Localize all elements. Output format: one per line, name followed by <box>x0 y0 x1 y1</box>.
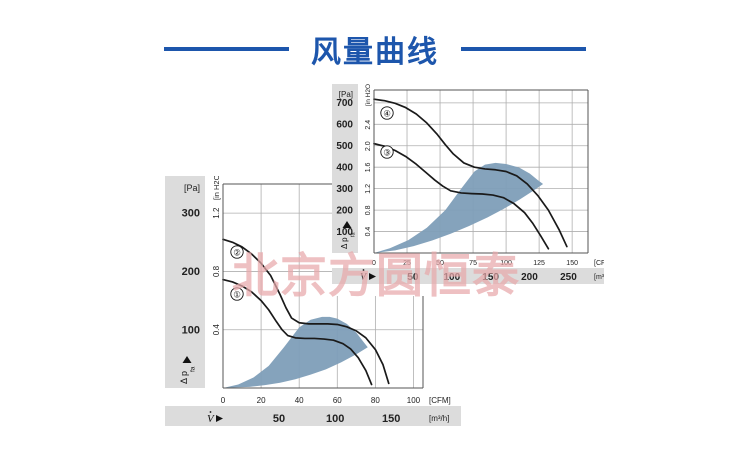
y-tick-secondary: 0.8 <box>365 205 372 215</box>
y-axis-title: Δ p <box>340 237 349 249</box>
y-tick-secondary: 0.4 <box>212 324 221 336</box>
x-axis-title-dot <box>363 269 365 271</box>
y-tick-primary: 200 <box>336 205 353 216</box>
x-tick-primary: 60 <box>333 396 342 405</box>
x-tick-secondary: 150 <box>482 272 499 283</box>
y-axis-title-subscript: fa <box>190 366 197 372</box>
series-marker-label-①: ① <box>233 289 241 299</box>
x-axis-unit-primary: [CFM] <box>429 396 451 405</box>
x-axis-unit-secondary: [m³/h] <box>594 274 604 281</box>
x-tick-primary: 40 <box>295 396 304 405</box>
page-title: 风量曲线 <box>311 27 439 71</box>
x-tick-primary: 125 <box>533 260 545 267</box>
x-tick-primary: 25 <box>403 260 411 267</box>
x-tick-secondary: 100 <box>443 272 460 283</box>
y-tick-secondary: 0.8 <box>212 265 221 277</box>
title-rule-right <box>461 47 586 51</box>
x-axis-title-dot <box>210 411 212 413</box>
x-tick-primary: 150 <box>566 260 578 267</box>
y-tick-secondary: 2.0 <box>365 141 372 151</box>
y-tick-secondary: 0.4 <box>365 227 372 237</box>
title-rule-left <box>164 47 289 51</box>
x-tick-secondary: 200 <box>521 272 538 283</box>
y-tick-primary: 600 <box>336 120 353 131</box>
y-tick-primary: 700 <box>336 98 353 109</box>
y-tick-secondary: 2.4 <box>365 120 372 130</box>
y-tick-secondary: 1.6 <box>365 162 372 172</box>
x-tick-primary: 100 <box>500 260 512 267</box>
series-marker-label-④: ④ <box>383 108 391 118</box>
y-tick-primary: 300 <box>336 184 353 195</box>
x-tick-primary: 100 <box>407 396 421 405</box>
x-tick-primary: 80 <box>371 396 380 405</box>
x-tick-secondary: 50 <box>273 413 285 425</box>
x-tick-secondary: 100 <box>326 413 344 425</box>
x-tick-primary: 0 <box>372 260 376 267</box>
chart-right-canvas: 700600500400300200100[Pa]2.42.01.61.20.8… <box>332 84 604 296</box>
y-tick-primary: 200 <box>182 266 200 278</box>
y-tick-secondary: 1.2 <box>365 184 372 194</box>
x-tick-secondary: 50 <box>407 272 419 283</box>
y-tick-primary: 400 <box>336 162 353 173</box>
y-axis-unit-secondary: [in H2O] <box>365 84 372 106</box>
x-tick-primary: 50 <box>436 260 444 267</box>
x-axis-unit-primary: [CFM] <box>594 260 604 267</box>
y-tick-primary: 500 <box>336 141 353 152</box>
fan-curve-chart-right: 700600500400300200100[Pa]2.42.01.61.20.8… <box>332 84 604 296</box>
x-tick-primary: 75 <box>469 260 477 267</box>
x-axis-unit-secondary: [m³/h] <box>429 414 449 423</box>
page-title-bar: 风量曲线 <box>0 26 750 72</box>
y-axis-unit-primary: [Pa] <box>184 183 200 193</box>
x-tick-secondary: 250 <box>560 272 577 283</box>
y-axis-unit-primary: [Pa] <box>339 90 353 99</box>
y-tick-primary: 100 <box>182 324 200 336</box>
y-tick-primary: 300 <box>182 208 200 220</box>
x-tick-primary: 0 <box>221 396 226 405</box>
x-tick-secondary: 150 <box>382 413 400 425</box>
y-axis-title: Δ p <box>179 371 189 384</box>
series-marker-label-②: ② <box>233 247 241 257</box>
series-marker-label-③: ③ <box>383 147 391 157</box>
x-tick-primary: 20 <box>257 396 266 405</box>
y-axis-unit-secondary: [in H2O] <box>212 176 221 200</box>
y-tick-secondary: 1.2 <box>212 207 221 219</box>
